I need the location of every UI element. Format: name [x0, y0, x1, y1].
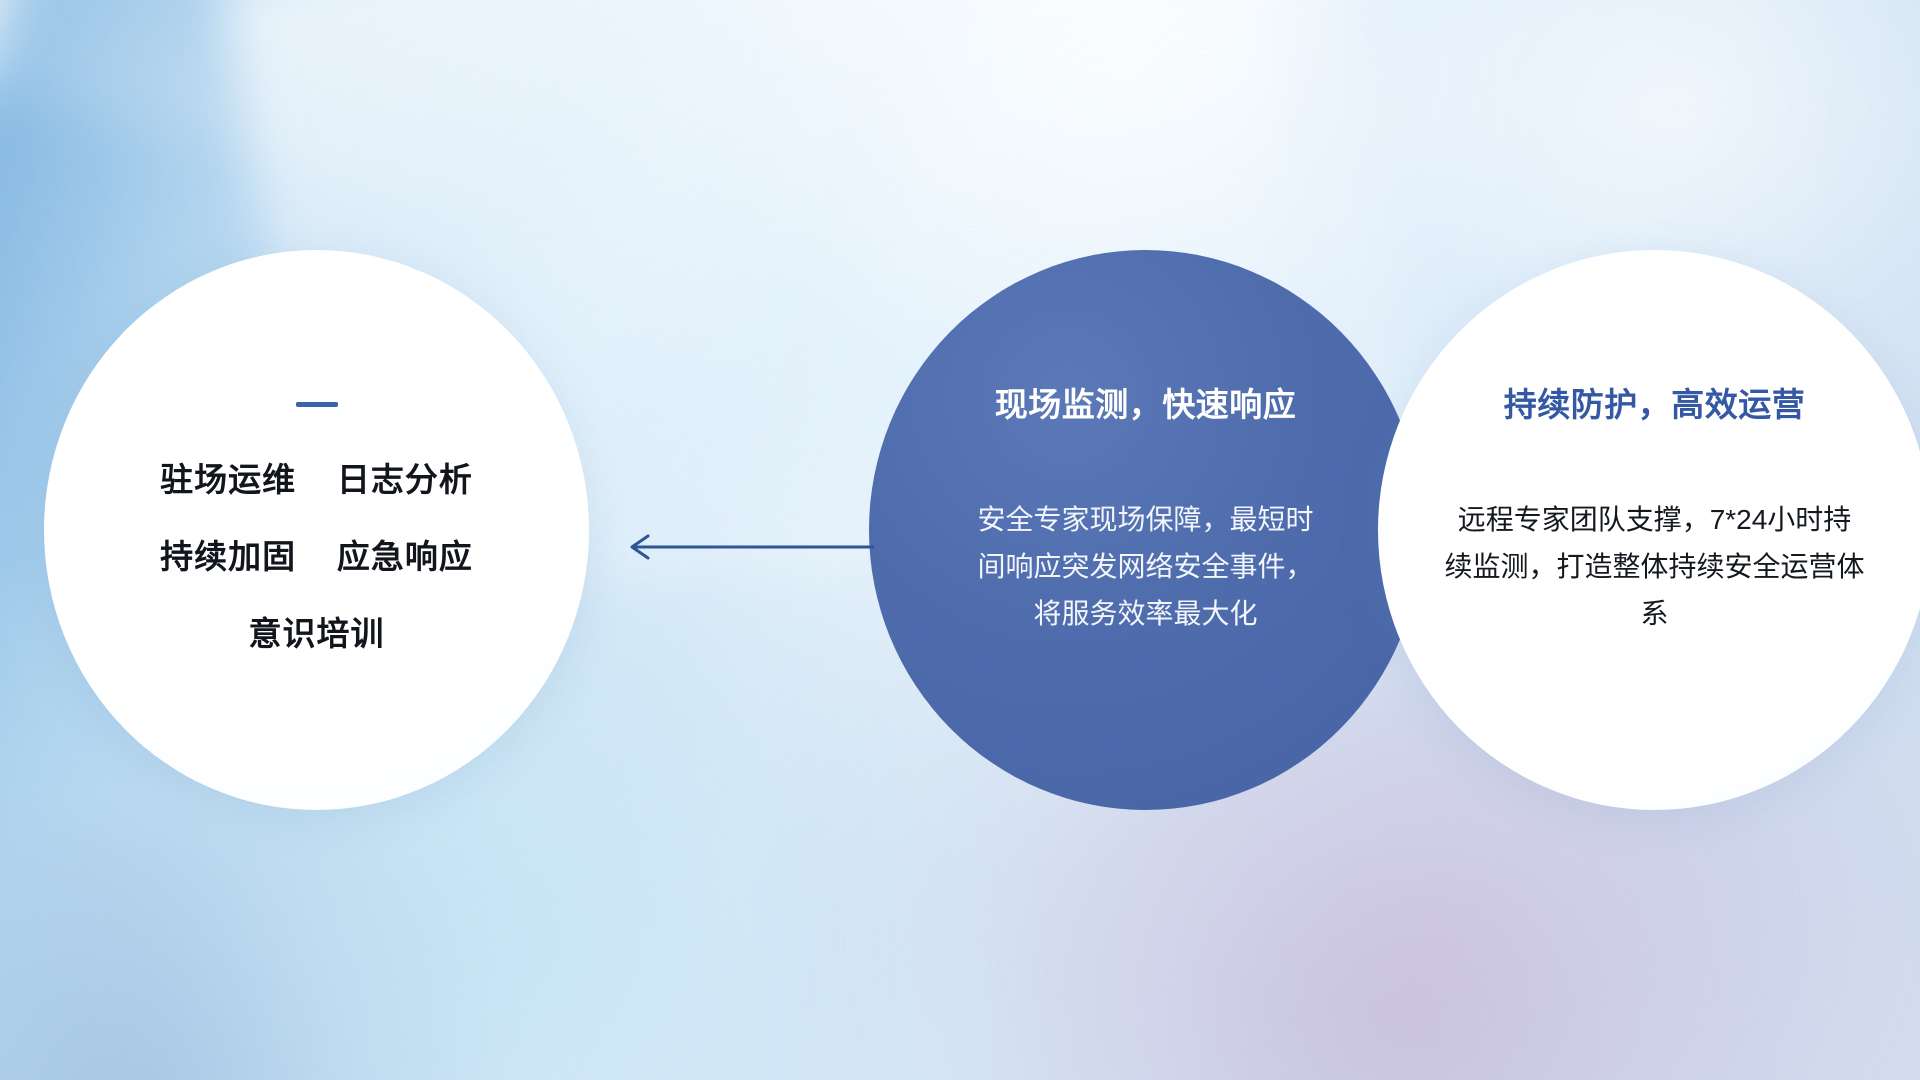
middle-onsite-monitoring-circle[interactable]: 现场监测，快速响应 安全专家现场保障，最短时间响应突发网络安全事件，将服务效率最… [869, 250, 1422, 810]
right-circle-title: 持续防护，高效运营 [1504, 378, 1806, 426]
middle-circle-body: 安全专家现场保障，最短时间响应突发网络安全事件，将服务效率最大化 [972, 496, 1320, 637]
left-circle-line-2: 持续加固 应急响应 [44, 540, 589, 573]
right-circle-body: 远程专家团队支撑，7*24小时持续监测，打造整体持续安全运营体系 [1445, 496, 1865, 637]
left-circle-line-3: 意识培训 [44, 617, 589, 650]
divider-dash [296, 402, 338, 407]
left-circle-content: 驻场运维 日志分析 持续加固 应急响应 意识培训 [44, 402, 589, 658]
diagram-stage: 驻场运维 日志分析 持续加固 应急响应 意识培训 现场监测，快速响应 安全专家现… [0, 0, 1920, 1080]
left-service-circle[interactable]: 驻场运维 日志分析 持续加固 应急响应 意识培训 [44, 250, 589, 810]
middle-circle-title: 现场监测，快速响应 [995, 378, 1297, 426]
connector-arrow-left [612, 534, 876, 560]
left-circle-line-1: 驻场运维 日志分析 [44, 463, 589, 496]
right-continuous-protection-circle[interactable]: 持续防护，高效运营 远程专家团队支撑，7*24小时持续监测，打造整体持续安全运营… [1378, 250, 1920, 810]
